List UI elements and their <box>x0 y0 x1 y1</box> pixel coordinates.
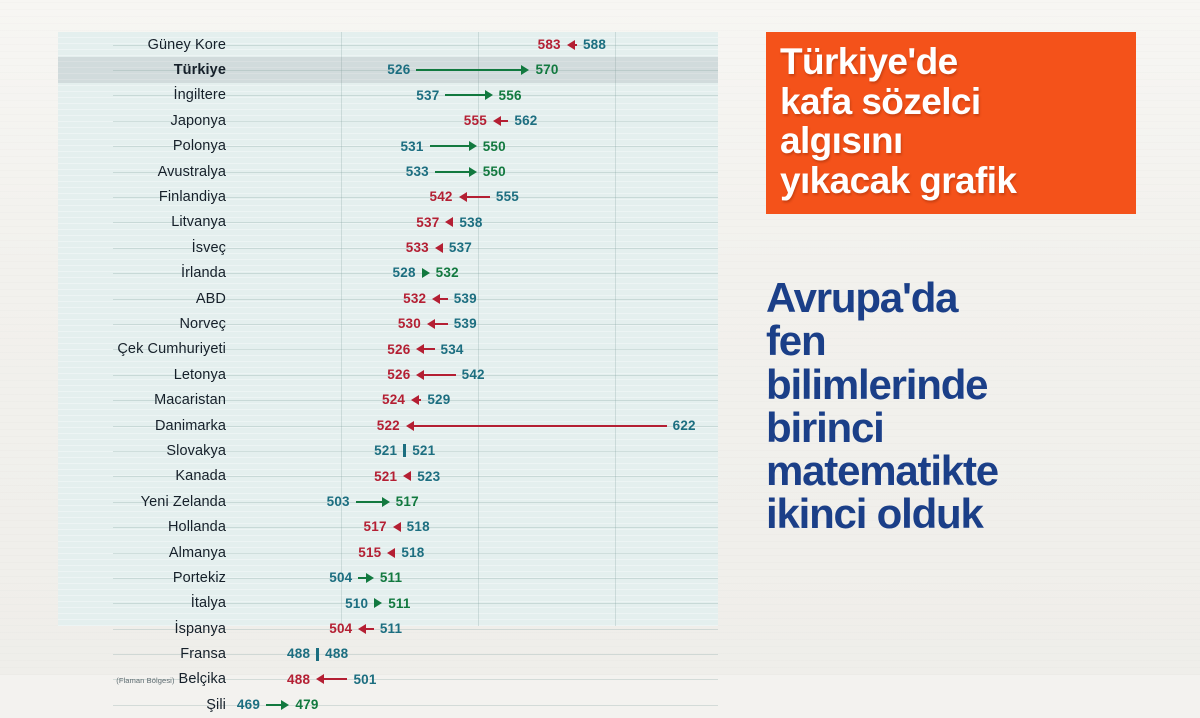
table-row: İspanya504511 <box>58 616 718 641</box>
table-row: (Flaman Bölgesi)Belçika488501 <box>58 667 718 692</box>
row-label-wrap: Yeni Zelanda <box>58 494 230 510</box>
row-label: Kanada <box>175 468 226 484</box>
change-arrow-icon <box>374 596 382 610</box>
row-label: Güney Kore <box>148 37 226 53</box>
value-pair: 522622 <box>377 419 696 433</box>
row-label-wrap: Litvanya <box>58 214 230 230</box>
arrow-shaft <box>423 348 434 350</box>
value-right: 570 <box>535 63 558 77</box>
subheadline-line: bilimlerinde <box>766 363 1166 406</box>
table-row: Almanya515518 <box>58 540 718 565</box>
value-right: 521 <box>412 444 435 458</box>
subheadline-line: fen <box>766 319 1166 362</box>
value-right: 511 <box>380 622 402 636</box>
value-right: 517 <box>396 495 419 509</box>
value-left: 510 <box>345 597 368 611</box>
subheadline-line: matematikte <box>766 449 1166 492</box>
value-pair: 542555 <box>429 190 519 204</box>
row-plot: 537556 <box>230 83 718 108</box>
value-right: 550 <box>483 140 506 154</box>
change-arrow-icon <box>435 241 443 255</box>
change-arrow-icon <box>358 622 373 636</box>
arrow-shaft <box>430 145 470 147</box>
row-plot: 555562 <box>230 108 718 133</box>
arrow-shaft <box>466 196 490 198</box>
row-label: Hollanda <box>168 519 226 535</box>
chart-rows: Güney Kore583588Türkiye526570İngiltere53… <box>58 32 718 718</box>
change-arrow-icon <box>416 368 455 382</box>
row-label: Türkiye <box>174 62 226 78</box>
row-label-wrap: Polonya <box>58 138 230 154</box>
value-pair: 583588 <box>538 38 606 52</box>
change-arrow-icon <box>411 393 421 407</box>
row-plot: 522622 <box>230 413 718 438</box>
table-row: Letonya526542 <box>58 362 718 387</box>
row-label: Polonya <box>173 138 226 154</box>
value-right: 556 <box>499 89 522 103</box>
value-right: 518 <box>401 546 424 560</box>
value-left: 532 <box>403 292 426 306</box>
change-arrow-icon <box>356 495 390 509</box>
value-left: 504 <box>329 622 352 636</box>
value-left: 531 <box>400 140 423 154</box>
row-label: Macaristan <box>154 392 226 408</box>
row-label: İspanya <box>175 621 227 637</box>
headline-line: Türkiye'de <box>780 42 1122 82</box>
row-plot: 521521 <box>230 438 718 463</box>
value-right: 588 <box>583 38 606 52</box>
row-label-note: (Flaman Bölgesi) <box>116 676 174 685</box>
table-row: Finlandiya542555 <box>58 184 718 209</box>
row-label-wrap: (Flaman Bölgesi)Belçika <box>58 671 230 687</box>
row-label-wrap: Fransa <box>58 646 230 662</box>
value-left: 526 <box>387 368 410 382</box>
value-left: 526 <box>387 63 410 77</box>
value-right: 532 <box>436 266 459 280</box>
value-left: 555 <box>464 114 487 128</box>
value-left: 503 <box>327 495 350 509</box>
value-pair: 533537 <box>406 241 472 255</box>
table-row: Norveç530539 <box>58 311 718 336</box>
value-pair: 555562 <box>464 114 538 128</box>
arrow-head <box>469 141 477 151</box>
table-row: Yeni Zelanda503517 <box>58 489 718 514</box>
table-row: Kanada521523 <box>58 464 718 489</box>
table-row: Hollanda517518 <box>58 514 718 539</box>
table-row: İtalya510511 <box>58 591 718 616</box>
row-label: Letonya <box>174 367 226 383</box>
arrow-head <box>281 700 289 710</box>
arrow-shaft <box>356 501 383 503</box>
row-label: İngiltere <box>174 87 227 103</box>
arrow-shaft <box>323 678 347 680</box>
change-arrow-icon <box>416 342 434 356</box>
row-label-wrap: Macaristan <box>58 392 230 408</box>
row-plot: 488488 <box>230 641 718 666</box>
row-label-wrap: İsveç <box>58 240 230 256</box>
row-plot: 533550 <box>230 159 718 184</box>
value-pair: 504511 <box>329 622 402 636</box>
subheadline-line: birinci <box>766 406 1166 449</box>
value-right: 539 <box>454 292 477 306</box>
arrow-shaft <box>434 323 448 325</box>
value-pair: 488488 <box>287 647 348 661</box>
arrow-head <box>366 573 374 583</box>
table-row: İrlanda528532 <box>58 261 718 286</box>
table-row: Güney Kore583588 <box>58 32 718 57</box>
row-label-wrap: Almanya <box>58 545 230 561</box>
value-pair: 517518 <box>364 520 430 534</box>
value-right: 488 <box>325 647 348 661</box>
arrow-shaft <box>413 425 667 427</box>
value-pair: 510511 <box>345 596 411 610</box>
value-pair: 528532 <box>393 266 459 280</box>
change-arrow-icon <box>430 139 477 153</box>
row-label-wrap: İngiltere <box>58 87 230 103</box>
change-arrow-icon <box>427 317 448 331</box>
value-right: 538 <box>459 216 482 230</box>
value-right: 537 <box>449 241 472 255</box>
change-arrow-icon <box>445 215 453 229</box>
arrow-shaft <box>439 298 447 300</box>
value-left: 537 <box>416 89 439 103</box>
row-label-wrap: Türkiye <box>58 62 230 78</box>
row-label-wrap: Kanada <box>58 468 230 484</box>
value-pair: 526542 <box>387 368 484 382</box>
value-pair: 524529 <box>382 393 450 407</box>
table-row: Türkiye526570 <box>58 57 718 82</box>
value-left: 583 <box>538 38 561 52</box>
row-label: İsveç <box>192 240 226 256</box>
row-label: Almanya <box>169 545 226 561</box>
row-label: Finlandiya <box>159 189 226 205</box>
arrow-head <box>469 167 477 177</box>
arrow-shaft <box>418 399 421 401</box>
value-left: 515 <box>358 546 381 560</box>
table-row: Japonya555562 <box>58 108 718 133</box>
arrow-head <box>422 268 430 278</box>
change-arrow-icon <box>358 571 373 585</box>
value-left: 488 <box>287 647 310 661</box>
value-right: 542 <box>462 368 485 382</box>
change-arrow-icon <box>422 266 430 280</box>
headline-line: kafa sözelci <box>780 82 1122 122</box>
row-plot: 524529 <box>230 387 718 412</box>
row-label: Portekiz <box>173 570 226 586</box>
row-plot: 504511 <box>230 565 718 590</box>
table-row: Fransa488488 <box>58 641 718 666</box>
value-right: 555 <box>496 190 519 204</box>
value-pair: 537556 <box>416 88 521 102</box>
subheadline-line: ikinci olduk <box>766 492 1166 535</box>
arrow-shaft <box>416 69 522 71</box>
row-label-wrap: Japonya <box>58 113 230 129</box>
row-label-wrap: İtalya <box>58 595 230 611</box>
row-label: Çek Cumhuriyeti <box>117 341 226 357</box>
row-plot: 528532 <box>230 261 718 286</box>
arrow-shaft <box>452 221 453 223</box>
value-right: 534 <box>441 343 464 357</box>
no-change-bar <box>403 444 406 457</box>
value-right: 511 <box>388 597 410 611</box>
chart-panel: Güney Kore583588Türkiye526570İngiltere53… <box>58 32 718 626</box>
table-row: Şili469479 <box>58 692 718 717</box>
row-label: Şili <box>206 697 226 713</box>
row-label: Avustralya <box>158 164 226 180</box>
arrow-head <box>485 90 493 100</box>
row-plot: 521523 <box>230 464 718 489</box>
value-pair: 530539 <box>398 317 477 331</box>
row-plot: 526534 <box>230 337 718 362</box>
row-label: Danimarka <box>155 418 226 434</box>
value-left: 533 <box>406 165 429 179</box>
row-plot: 531550 <box>230 134 718 159</box>
arrow-shaft <box>423 374 455 376</box>
value-pair: 521521 <box>374 444 435 458</box>
arrow-shaft <box>400 526 401 528</box>
table-row: Macaristan524529 <box>58 387 718 412</box>
row-label-wrap: İrlanda <box>58 265 230 281</box>
table-row: Slovakya521521 <box>58 438 718 463</box>
change-arrow-icon <box>493 114 508 128</box>
value-left: 521 <box>374 444 397 458</box>
arrow-head <box>521 65 529 75</box>
row-plot: 530539 <box>230 311 718 336</box>
value-pair: 537538 <box>416 215 482 229</box>
value-pair: 503517 <box>327 495 419 509</box>
value-left: 504 <box>329 571 352 585</box>
table-row: Litvanya537538 <box>58 210 718 235</box>
row-label-wrap: Hollanda <box>58 519 230 535</box>
value-left: 524 <box>382 393 405 407</box>
value-right: 511 <box>380 571 402 585</box>
table-row: ABD532539 <box>58 286 718 311</box>
value-left: 521 <box>374 470 397 484</box>
arrow-shaft <box>410 475 411 477</box>
value-pair: 515518 <box>358 546 424 560</box>
row-label-wrap: İspanya <box>58 621 230 637</box>
arrow-shaft <box>266 704 282 706</box>
row-plot: 469479 <box>230 692 718 717</box>
row-plot: 526542 <box>230 362 718 387</box>
arrow-shaft <box>365 628 373 630</box>
table-row: Polonya531550 <box>58 134 718 159</box>
value-right: 550 <box>483 165 506 179</box>
headline-line: yıkacak grafik <box>780 161 1122 201</box>
value-left: 526 <box>387 343 410 357</box>
value-right: 523 <box>417 470 440 484</box>
change-arrow-icon <box>445 88 492 102</box>
subheadline: Avrupa'da fen bilimlerinde birinci matem… <box>766 276 1166 536</box>
table-row: Çek Cumhuriyeti526534 <box>58 337 718 362</box>
row-label: Norveç <box>179 316 226 332</box>
value-pair: 532539 <box>403 292 477 306</box>
change-arrow-icon <box>432 292 447 306</box>
value-pair: 521523 <box>374 469 440 483</box>
row-label-wrap: Danimarka <box>58 418 230 434</box>
row-plot: 488501 <box>230 667 718 692</box>
row-plot: 526570 <box>230 57 718 82</box>
row-label-wrap: Şili <box>58 697 230 713</box>
change-arrow-icon <box>393 520 401 534</box>
change-arrow-icon <box>266 698 289 712</box>
value-left: 469 <box>237 698 260 712</box>
headline-line: algısını <box>780 121 1122 161</box>
row-plot: 515518 <box>230 540 718 565</box>
change-arrow-icon <box>403 444 406 458</box>
row-plot: 510511 <box>230 591 718 616</box>
value-pair: 526570 <box>387 63 558 77</box>
row-label-wrap: Norveç <box>58 316 230 332</box>
row-plot: 542555 <box>230 184 718 209</box>
row-plot: 533537 <box>230 235 718 260</box>
change-arrow-icon <box>406 419 667 433</box>
table-row: Danimarka522622 <box>58 413 718 438</box>
change-arrow-icon <box>435 165 477 179</box>
arrow-shaft <box>442 247 443 249</box>
row-label-wrap: Slovakya <box>58 443 230 459</box>
row-label: Belçika <box>179 671 226 687</box>
headline-box: Türkiye'de kafa sözelci algısını yıkacak… <box>766 32 1136 214</box>
value-left: 528 <box>393 266 416 280</box>
row-label-wrap: Güney Kore <box>58 37 230 53</box>
change-arrow-icon <box>416 63 529 77</box>
change-arrow-icon <box>387 546 395 560</box>
table-row: Avustralya533550 <box>58 159 718 184</box>
row-label: Fransa <box>180 646 226 662</box>
row-label: Japonya <box>170 113 226 129</box>
change-arrow-icon <box>459 190 490 204</box>
arrow-shaft <box>445 94 485 96</box>
change-arrow-icon <box>403 469 411 483</box>
table-row: İngiltere537556 <box>58 83 718 108</box>
value-right: 479 <box>295 698 318 712</box>
row-plot: 504511 <box>230 616 718 641</box>
row-plot: 517518 <box>230 514 718 539</box>
row-label: Slovakya <box>166 443 226 459</box>
row-label-wrap: Çek Cumhuriyeti <box>58 341 230 357</box>
table-row: Portekiz504511 <box>58 565 718 590</box>
arrow-shaft <box>435 171 470 173</box>
row-label: ABD <box>196 291 226 307</box>
table-row: İsveç533537 <box>58 235 718 260</box>
value-left: 517 <box>364 520 387 534</box>
no-change-bar <box>316 648 319 661</box>
change-arrow-icon <box>567 38 577 52</box>
row-label-wrap: Portekiz <box>58 570 230 586</box>
row-label: İtalya <box>191 595 226 611</box>
arrow-shaft <box>574 44 577 46</box>
value-pair: 533550 <box>406 165 506 179</box>
row-label-wrap: Letonya <box>58 367 230 383</box>
value-left: 537 <box>416 216 439 230</box>
arrow-head <box>382 497 390 507</box>
arrow-shaft <box>500 120 508 122</box>
row-plot: 537538 <box>230 210 718 235</box>
subheadline-line: Avrupa'da <box>766 276 1166 319</box>
value-right: 539 <box>454 317 477 331</box>
value-pair: 469479 <box>237 698 319 712</box>
row-plot: 583588 <box>230 32 718 57</box>
value-pair: 526534 <box>387 342 463 356</box>
value-right: 562 <box>514 114 537 128</box>
arrow-head <box>374 598 382 608</box>
value-left: 542 <box>429 190 452 204</box>
row-label-wrap: ABD <box>58 291 230 307</box>
row-label-wrap: Avustralya <box>58 164 230 180</box>
value-left: 530 <box>398 317 421 331</box>
row-label: Yeni Zelanda <box>141 494 226 510</box>
row-plot: 503517 <box>230 489 718 514</box>
row-label: Litvanya <box>171 214 226 230</box>
change-arrow-icon <box>316 647 319 661</box>
value-left: 533 <box>406 241 429 255</box>
value-pair: 531550 <box>400 139 505 153</box>
value-right: 622 <box>673 419 696 433</box>
value-right: 529 <box>427 393 450 407</box>
value-pair: 504511 <box>329 571 402 585</box>
value-right: 518 <box>407 520 430 534</box>
row-label: İrlanda <box>181 265 226 281</box>
row-plot: 532539 <box>230 286 718 311</box>
row-label-wrap: Finlandiya <box>58 189 230 205</box>
value-left: 522 <box>377 419 400 433</box>
arrow-shaft <box>394 552 395 554</box>
